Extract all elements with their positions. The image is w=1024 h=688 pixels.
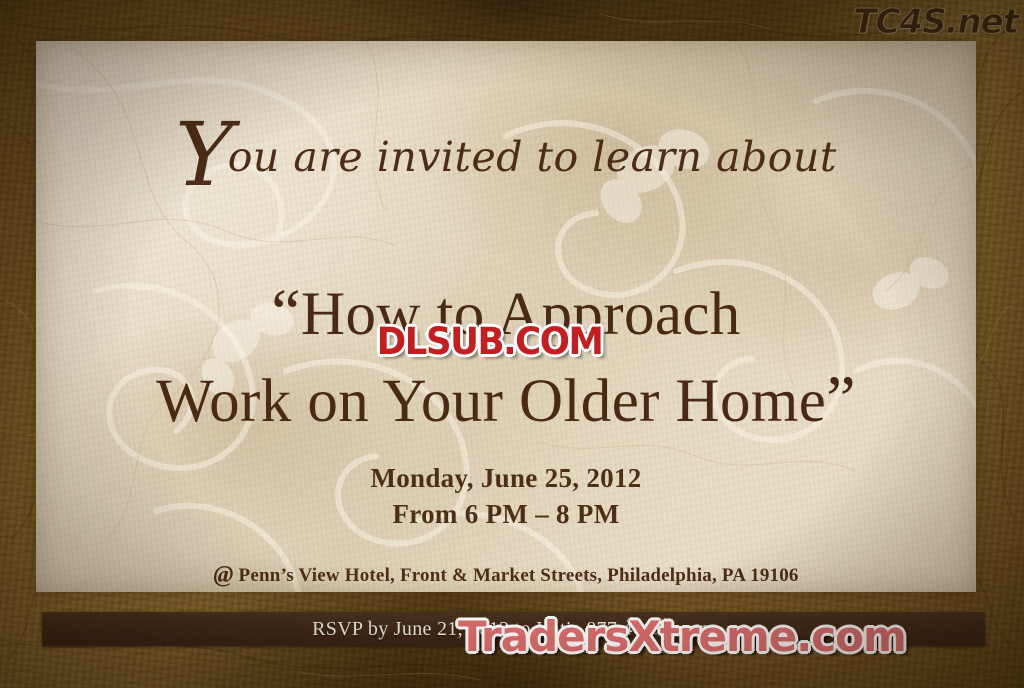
event-date-block: Monday, June 25, 2012 From 6 PM – 8 PM xyxy=(36,461,976,532)
headline-line-2: Work on Your Older Home” xyxy=(36,356,976,443)
at-symbol-icon: @ xyxy=(213,562,233,588)
headline-open-quote: “ xyxy=(271,276,301,349)
watermark-dlsub: DLSUB.COM xyxy=(377,320,603,363)
watermark-tc4s: TC4S.net xyxy=(853,2,1018,42)
watermark-tradersxtreme: TradersXtreme.com xyxy=(458,612,906,661)
invitation-flyer: You are invited to learn about “How to A… xyxy=(0,0,1024,688)
headline-line-2-text: Work on Your Older Home xyxy=(156,368,826,435)
event-time: From 6 PM – 8 PM xyxy=(36,497,976,533)
event-date: Monday, June 25, 2012 xyxy=(36,461,976,497)
event-venue: @Penn’s View Hotel, Front & Market Stree… xyxy=(36,562,976,589)
intro-text: ou are invited to learn about xyxy=(228,133,837,181)
headline-close-quote: ” xyxy=(826,363,856,436)
parchment-panel: You are invited to learn about “How to A… xyxy=(36,41,976,592)
intro-dropcap: Y xyxy=(175,103,234,206)
intro-line: You are invited to learn about xyxy=(36,133,976,181)
venue-text: Penn’s View Hotel, Front & Market Street… xyxy=(239,565,799,586)
invitation-content: You are invited to learn about “How to A… xyxy=(36,41,976,592)
